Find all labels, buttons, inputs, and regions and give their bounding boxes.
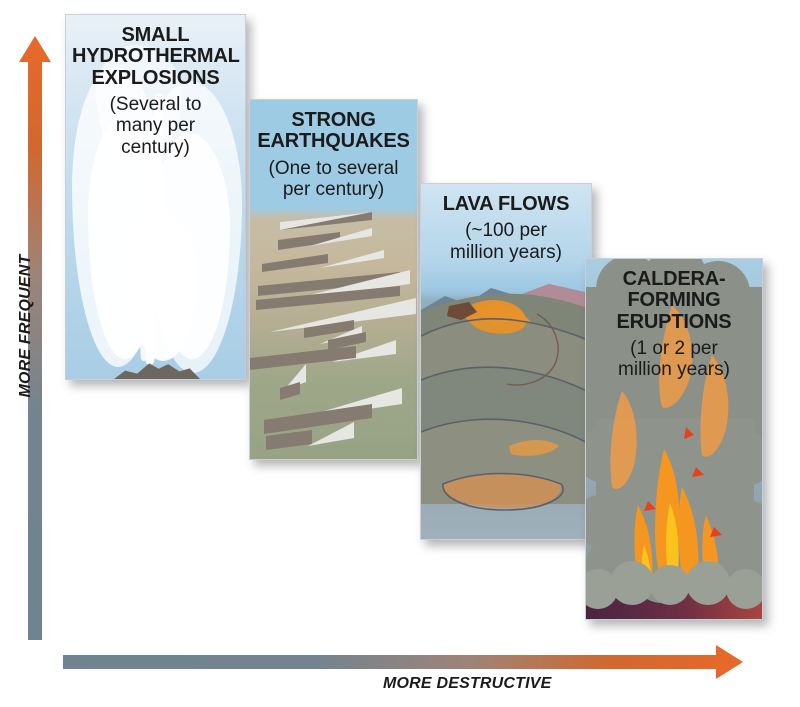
x-axis-label: MORE DESTRUCTIVE [383,675,552,693]
x-axis-arrow-head-icon [716,645,743,679]
y-axis-label: MORE FREQUENT [17,236,35,416]
panel-1-caption: SMALL HYDROTHERMAL EXPLOSIONS (Several t… [66,25,245,158]
panel-3-title: LAVA FLOWS [427,194,585,215]
panel-3-frequency: (~100 per million years) [427,220,585,263]
panel-3-caption: LAVA FLOWS (~100 per million years) [421,194,591,263]
panel-lava-flows[interactable]: LAVA FLOWS (~100 per million years) [420,183,592,540]
infographic-root: MORE FREQUENT MORE DESTRUCTIVE SMALL HYD… [0,0,800,707]
panel-4-frequency: (1 or 2 per million years) [592,338,756,381]
panel-2-caption: STRONG EARTHQUAKES (One to several per c… [250,110,417,200]
panel-4-title: CALDERA- FORMING ERUPTIONS [592,269,756,333]
panel-4-caption: CALDERA- FORMING ERUPTIONS (1 or 2 per m… [586,269,762,381]
panel-2-title: STRONG EARTHQUAKES [256,110,411,153]
panel-caldera-forming-eruptions[interactable]: CALDERA- FORMING ERUPTIONS (1 or 2 per m… [585,258,763,620]
panel-strong-earthquakes[interactable]: STRONG EARTHQUAKES (One to several per c… [249,99,418,460]
x-axis-arrow-shaft [63,655,718,669]
y-axis-arrow-head-icon [19,36,51,62]
panel-2-frequency: (One to several per century) [256,158,411,201]
panel-1-frequency: (Several to many per century) [72,94,239,158]
panel-1-title: SMALL HYDROTHERMAL EXPLOSIONS [72,25,239,89]
panel-small-hydrothermal-explosions[interactable]: SMALL HYDROTHERMAL EXPLOSIONS (Several t… [65,14,246,380]
